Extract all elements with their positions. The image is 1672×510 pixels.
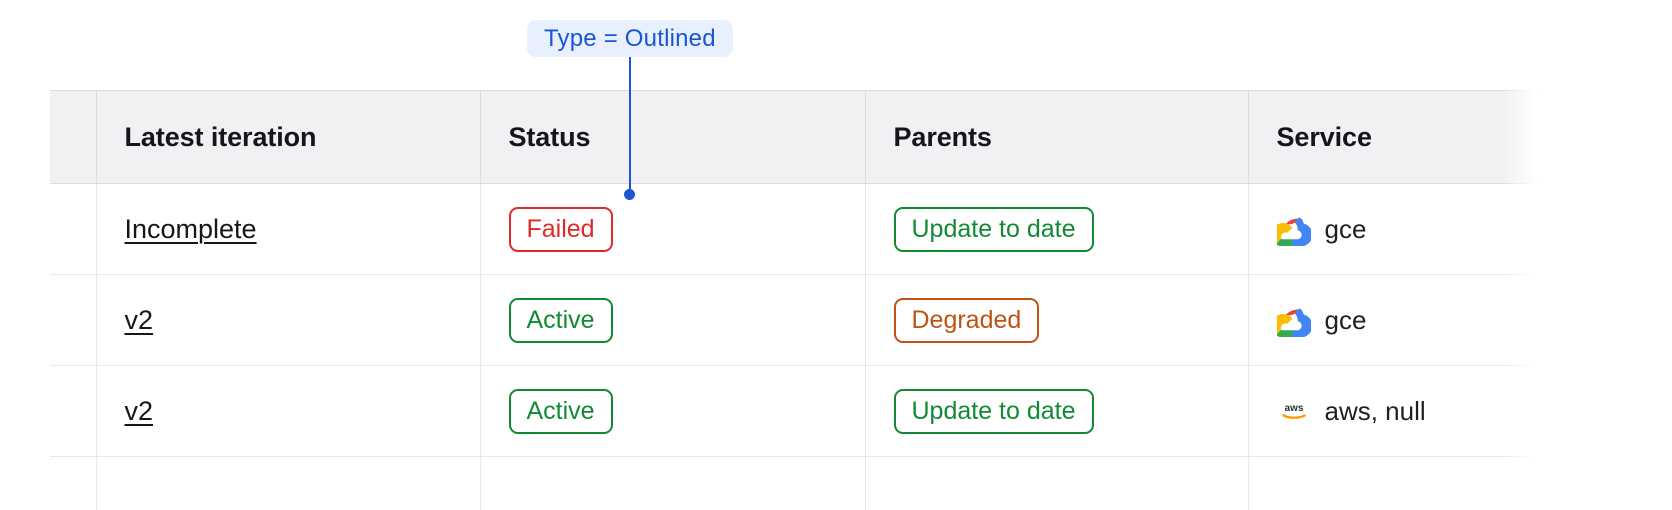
service-label: gce	[1325, 214, 1367, 245]
service-cell: aws aws, null	[1277, 394, 1541, 428]
parents-badge: Degraded	[894, 298, 1040, 343]
table-header: Latest iteration Status Parents Service	[50, 91, 1540, 184]
cell-parents: Update to date	[865, 184, 1248, 275]
column-header-select[interactable]	[50, 91, 96, 184]
cell-latest-iteration: v2	[96, 366, 480, 457]
row-select-cell[interactable]	[50, 366, 96, 457]
table-row[interactable]: v2 Active Update to date aws aws,	[50, 366, 1540, 457]
table-row[interactable]: Incomplete Failed Update to date	[50, 184, 1540, 275]
cell-service: gce	[1248, 275, 1540, 366]
table-body: Incomplete Failed Update to date	[50, 184, 1540, 510]
cell-status: Active	[480, 275, 865, 366]
google-cloud-icon	[1277, 212, 1311, 246]
service-cell: gce	[1277, 212, 1541, 246]
iteration-link[interactable]: v2	[125, 305, 154, 335]
iteration-link[interactable]: Incomplete	[125, 214, 257, 244]
parents-badge: Update to date	[894, 207, 1094, 252]
row-select-cell[interactable]	[50, 184, 96, 275]
cell-parents: Update to date	[865, 366, 1248, 457]
cell-latest-iteration	[96, 457, 480, 510]
column-header-latest-iteration[interactable]: Latest iteration	[96, 91, 480, 184]
service-label: gce	[1325, 305, 1367, 336]
cell-status: Failed	[480, 184, 865, 275]
table-header-row: Latest iteration Status Parents Service	[50, 91, 1540, 184]
cell-status: Active	[480, 366, 865, 457]
google-cloud-icon	[1277, 303, 1311, 337]
column-header-status[interactable]: Status	[480, 91, 865, 184]
cell-parents: Degraded	[865, 275, 1248, 366]
status-badge: Failed	[509, 207, 613, 252]
status-badge: Active	[509, 298, 613, 343]
cell-latest-iteration: Incomplete	[96, 184, 480, 275]
iteration-link[interactable]: v2	[125, 396, 154, 426]
resources-table: Latest iteration Status Parents Service …	[50, 90, 1540, 510]
cell-service	[1248, 457, 1540, 510]
annotation-callout-chip: Type = Outlined	[527, 20, 733, 57]
aws-icon: aws	[1277, 394, 1311, 428]
cell-service: aws aws, null	[1248, 366, 1540, 457]
cell-service: gce	[1248, 184, 1540, 275]
column-header-parents[interactable]: Parents	[865, 91, 1248, 184]
table-row[interactable]: v2 Active Degraded	[50, 275, 1540, 366]
svg-text:aws: aws	[1284, 403, 1303, 414]
row-select-cell[interactable]	[50, 457, 96, 510]
cell-latest-iteration: v2	[96, 275, 480, 366]
status-badge: Active	[509, 389, 613, 434]
table-row[interactable]	[50, 457, 1540, 510]
column-header-service[interactable]: Service	[1248, 91, 1540, 184]
row-select-cell[interactable]	[50, 275, 96, 366]
cell-status	[480, 457, 865, 510]
service-cell: gce	[1277, 303, 1541, 337]
cell-parents	[865, 457, 1248, 510]
data-table-container: Latest iteration Status Parents Service …	[50, 90, 1540, 510]
service-label: aws, null	[1325, 396, 1426, 427]
parents-badge: Update to date	[894, 389, 1094, 434]
